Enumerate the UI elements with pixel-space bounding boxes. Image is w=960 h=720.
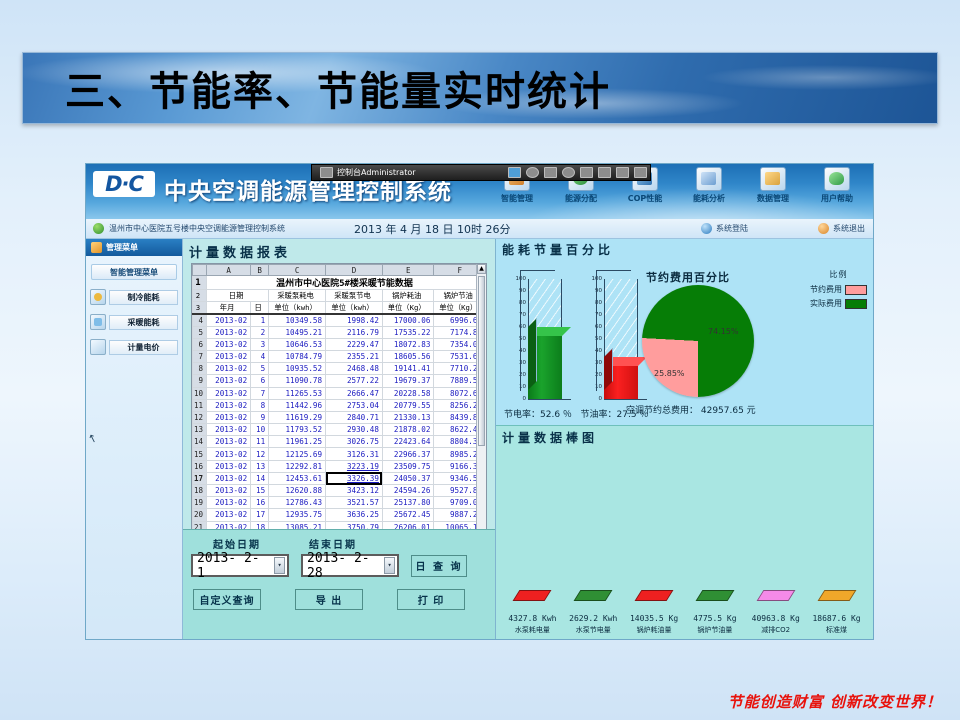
table-row: 202013-021712935.753636.2525672.459887.2… (193, 509, 486, 521)
header-day: 日 (251, 302, 269, 314)
legend-title: 比例 (810, 269, 867, 280)
selected-cell[interactable]: 3326.39 (326, 472, 383, 484)
bar-category: 标准煤 (809, 625, 865, 635)
row-header[interactable]: 14 (193, 436, 207, 448)
status-actions: 系统登陆 系统退出 (701, 223, 865, 234)
keyboard-icon[interactable] (616, 167, 629, 178)
end-date-label: 结束日期 (309, 536, 357, 551)
table-row: 72013-02410784.792355.2118605.567531.62 (193, 350, 486, 362)
cell-c[interactable]: 11442.96 (269, 399, 326, 411)
row-header[interactable]: 16 (193, 460, 207, 472)
drive-icon[interactable] (544, 167, 557, 178)
menu-icon (91, 242, 102, 253)
start-date-input[interactable]: 2013- 2- 1 ▾ (191, 554, 289, 577)
date-row: 2013- 2- 1 ▾ 2013- 2-28 ▾ 日 查 询 (183, 554, 495, 577)
row-header[interactable]: 20 (193, 509, 207, 521)
custom-query-button[interactable]: 自定义查询 (193, 589, 261, 610)
cell-e[interactable]: 24050.37 (382, 472, 434, 484)
nav-label: 智能管理 (501, 194, 533, 203)
bar-category: 水泵耗电量 (504, 625, 560, 635)
table-row: 102013-02711265.532666.4720228.588072.62 (193, 387, 486, 399)
cell-c[interactable]: 10646.53 (269, 338, 326, 350)
cell-ym[interactable]: 2013-02 (207, 460, 251, 472)
table-row: 52013-02210495.212116.7917535.227174.84 (193, 326, 486, 338)
bar-category: 减排CO2 (748, 625, 804, 635)
corner-cell (193, 265, 207, 276)
cell-c[interactable]: 10784.79 (269, 350, 326, 362)
bar-label-boiler-oil-used: 14035.5 Kg 锅炉耗油量 (626, 614, 682, 635)
sidebar-item-metering-price[interactable]: 计量电价 (90, 339, 178, 355)
print-button[interactable]: 打 印 (397, 589, 465, 610)
query-panel: 起始日期 结束日期 2013- 2- 1 ▾ 2013- 2-28 ▾ 日 查 … (183, 529, 495, 639)
column-header-row: A B C D E F (193, 265, 486, 276)
column-header-b[interactable]: B (251, 265, 269, 276)
cell-ym[interactable]: 2013-02 (207, 436, 251, 448)
row-header[interactable]: 6 (193, 338, 207, 350)
cell-ym[interactable]: 2013-02 (207, 363, 251, 375)
app-logo: D·C (93, 171, 155, 197)
bar-area (604, 279, 638, 399)
x-axis (604, 399, 647, 400)
cell-c[interactable]: 12292.81 (269, 460, 326, 472)
bar-item (687, 590, 743, 605)
cell-ym[interactable]: 2013-02 (207, 424, 251, 436)
scrollbar-thumb[interactable] (478, 276, 485, 446)
login-label: 系统登陆 (716, 223, 748, 234)
bar-label-pump-power-saved: 2629.2 Kwh 水泵节电量 (565, 614, 621, 635)
table-row: 112013-02811442.962753.0420779.558256.28 (193, 399, 486, 411)
row-header[interactable]: 19 (193, 497, 207, 509)
screen-icon[interactable] (508, 167, 521, 178)
cell-day[interactable]: 8 (251, 399, 269, 411)
cell-ym[interactable]: 2013-02 (207, 338, 251, 350)
cell-e[interactable]: 17000.06 (382, 314, 434, 326)
sidebar-item-heating-consumption[interactable]: 采暖能耗 (90, 314, 178, 330)
page-title: 三、节能率、节能量实时统计 (65, 59, 611, 117)
price-icon (90, 339, 106, 355)
cell-day[interactable]: 1 (251, 314, 269, 326)
pie-chart-title: 节约费用百分比 (646, 269, 730, 285)
bar-slab-boiler-oil-used (635, 590, 674, 601)
monitor-icon (320, 167, 333, 178)
cell-d[interactable]: 3223.19 (326, 460, 383, 472)
mouse-icon[interactable] (526, 167, 539, 178)
table-row: 152013-021212125.693126.3122966.378985.2… (193, 448, 486, 460)
sidebar-item-label: 计量电价 (109, 340, 178, 355)
cell-e[interactable]: 18072.83 (382, 338, 434, 350)
cell-c[interactable]: 10495.21 (269, 326, 326, 338)
cell-c[interactable]: 11090.78 (269, 375, 326, 387)
bar-area (528, 279, 562, 399)
bar-value: 4775.5 Kg (687, 614, 743, 623)
row-header[interactable]: 8 (193, 363, 207, 375)
cell-day[interactable]: 12 (251, 448, 269, 460)
table-row: 182013-021512620.883423.1224594.269527.8… (193, 485, 486, 497)
bar-category: 水泵节电量 (565, 625, 621, 635)
cell-d[interactable]: 2468.48 (326, 363, 383, 375)
bar-label-co2-reduction: 40963.8 Kg 减排CO2 (748, 614, 804, 635)
cell-day[interactable]: 3 (251, 338, 269, 350)
cell-day[interactable]: 9 (251, 411, 269, 423)
cell-e[interactable]: 19141.41 (382, 363, 434, 375)
header-date: 日期 (207, 290, 269, 302)
fullscreen-icon[interactable] (580, 167, 593, 178)
logout-label: 系统退出 (833, 223, 865, 234)
cell-ym[interactable]: 2013-02 (207, 472, 251, 484)
system-logout-button[interactable]: 系统退出 (818, 223, 865, 234)
cell-d[interactable]: 2930.48 (326, 424, 383, 436)
cell-day[interactable]: 4 (251, 350, 269, 362)
sidebar-header-label: 管理菜单 (106, 242, 138, 253)
console-toolbar[interactable]: 控制台Administrator (311, 164, 651, 181)
cell-c[interactable]: 12125.69 (269, 448, 326, 460)
cell-d[interactable]: 3126.31 (326, 448, 383, 460)
charts-panel: 能耗节量百分比 节约费用百分比 比例 节约费用 实际费用 1009080 706… (496, 239, 873, 639)
legend-label: 节约费用 (810, 284, 842, 295)
nav-label: COP性能 (628, 194, 663, 203)
cell-day[interactable]: 7 (251, 387, 269, 399)
bar-slab-standard-coal (817, 590, 856, 601)
table-row: 192013-021612786.433521.5725137.809709.0… (193, 497, 486, 509)
cooling-icon (90, 289, 106, 305)
cell-day[interactable]: 5 (251, 363, 269, 375)
cell-ym[interactable]: 2013-02 (207, 497, 251, 509)
table-row: 1 温州市中心医院5#楼采暖节能数据 (193, 276, 486, 290)
header-boiler-use: 锅炉耗油 (382, 290, 434, 302)
table-row: 2 日期 采暖泵耗电 采暖泵节电 锅炉耗油 锅炉节油 (193, 290, 486, 302)
bar-item (748, 590, 804, 605)
nav-label: 能耗分析 (693, 194, 725, 203)
slide-footer: 节能创造财富 创新改变世界！ (728, 691, 942, 712)
cell-d[interactable]: 2229.47 (326, 338, 383, 350)
bar-item (565, 590, 621, 605)
metering-bar-chart: 计量数据棒图 4327.8 Kwh 水泵耗电量 2629.2 Kwh 水泵节电量 (496, 425, 873, 639)
console-title: 控制台Administrator (337, 167, 416, 178)
cell-e[interactable]: 21330.13 (382, 411, 434, 423)
nav-item-user-help[interactable]: 用户帮助 (805, 167, 869, 204)
bar-row (496, 590, 873, 605)
nav-label: 用户帮助 (821, 194, 853, 203)
x-axis (528, 399, 571, 400)
cell-d[interactable]: 3636.25 (326, 509, 383, 521)
bar-slab-co2-reduction (756, 590, 795, 601)
legend-item-actual-cost: 实际费用 (810, 298, 867, 309)
cell-e[interactable]: 20779.55 (382, 399, 434, 411)
nav-label: 能源分配 (565, 194, 597, 203)
cell-d[interactable]: 3521.57 (326, 497, 383, 509)
cell-ym[interactable]: 2013-02 (207, 350, 251, 362)
cell-e[interactable]: 23509.75 (382, 460, 434, 472)
cell-ym[interactable]: 2013-02 (207, 387, 251, 399)
header-pump-save: 采暖泵节电 (326, 290, 383, 302)
user-icon (824, 167, 850, 191)
metering-chart-title: 计量数据棒图 (496, 426, 873, 446)
cell-ym[interactable]: 2013-02 (207, 326, 251, 338)
logout-icon (818, 223, 829, 234)
end-date-input[interactable]: 2013- 2-28 ▾ (301, 554, 399, 577)
bar-item (504, 590, 560, 605)
bar-slab-pump-power-used (513, 590, 552, 601)
system-name: 温州市中心医院五号楼中央空调能源管理控制系统 (109, 223, 285, 234)
cell-d[interactable]: 2116.79 (326, 326, 383, 338)
bar-side-face (528, 318, 537, 390)
cell-c[interactable]: 12453.61 (269, 472, 326, 484)
report-title: 计量数据报表 (183, 239, 495, 263)
cell-e[interactable]: 22966.37 (382, 448, 434, 460)
cell-d[interactable]: 3026.75 (326, 436, 383, 448)
row-header[interactable]: 10 (193, 387, 207, 399)
row-header[interactable]: 1 (193, 276, 207, 290)
start-date-label: 起始日期 (213, 536, 261, 551)
cell-day[interactable]: 6 (251, 375, 269, 387)
chevron-down-icon[interactable]: ▾ (274, 557, 285, 574)
system-login-button[interactable]: 系统登陆 (701, 223, 748, 234)
bar-green (528, 336, 562, 399)
sidebar-item-label: 采暖能耗 (109, 315, 178, 330)
start-date-value: 2013- 2- 1 (197, 551, 274, 581)
cell-ym[interactable]: 2013-02 (207, 399, 251, 411)
bar-value: 14035.5 Kg (626, 614, 682, 623)
header-unit-e: 单位（Kg） (382, 302, 434, 314)
power-saving-rate-text: 节电率：52.6 ％ (504, 410, 572, 420)
spreadsheet[interactable]: A B C D E F 1 温州市中心医院5#楼采暖节能数据 2 日期 采暖泵耗… (191, 263, 487, 560)
table-row: 42013-02110349.581998.4217000.066996.63 (193, 314, 486, 326)
row-header[interactable]: 12 (193, 411, 207, 423)
bar-labels: 4327.8 Kwh 水泵耗电量 2629.2 Kwh 水泵节电量 14035.… (496, 614, 873, 635)
row-header[interactable]: 2 (193, 290, 207, 302)
table-row: 82013-02510935.522468.4819141.417710.23 (193, 363, 486, 375)
table-row: 172013-021412453.613326.3924050.379346.5… (193, 472, 486, 484)
cell-c[interactable]: 11619.29 (269, 411, 326, 423)
cell-day[interactable]: 2 (251, 326, 269, 338)
sheet-title-cell: 温州市中心医院5#楼采暖节能数据 (207, 276, 486, 290)
cell-c[interactable]: 11793.52 (269, 424, 326, 436)
cell-c[interactable]: 10349.58 (269, 314, 326, 326)
header-unit-c: 单位（kwh） (269, 302, 326, 314)
pie-label-saved: 25.85% (654, 369, 685, 378)
cell-ym[interactable]: 2013-02 (207, 375, 251, 387)
cell-e[interactable]: 21878.02 (382, 424, 434, 436)
date-labels: 起始日期 结束日期 (183, 536, 495, 551)
slide-title-banner: 三、节能率、节能量实时统计 (22, 52, 938, 124)
header-ym: 年月 (207, 302, 251, 314)
sidebar-item-cooling-consumption[interactable]: 制冷能耗 (90, 289, 178, 305)
cell-e[interactable]: 25137.80 (382, 497, 434, 509)
cell-c[interactable]: 11961.25 (269, 436, 326, 448)
cell-day[interactable]: 17 (251, 509, 269, 521)
status-bar: 温州市中心医院五号楼中央空调能源管理控制系统 2013 年 4 月 18 日 1… (86, 219, 873, 239)
pie-label-actual: 74.15% (708, 327, 739, 336)
cell-ym[interactable]: 2013-02 (207, 411, 251, 423)
cell-day[interactable]: 11 (251, 436, 269, 448)
row-header[interactable]: 7 (193, 350, 207, 362)
legend-label: 实际费用 (810, 298, 842, 309)
cell-day[interactable]: 14 (251, 472, 269, 484)
cell-e[interactable]: 19679.37 (382, 375, 434, 387)
percentage-charts: 节约费用百分比 比例 节约费用 实际费用 1009080 706050 4030… (496, 257, 873, 419)
row-header[interactable]: 9 (193, 375, 207, 387)
cell-e[interactable]: 20228.58 (382, 387, 434, 399)
bar-slab-boiler-oil-saved (695, 590, 734, 601)
cell-d[interactable]: 2840.71 (326, 411, 383, 423)
row-header[interactable]: 5 (193, 326, 207, 338)
percent-chart-title: 能耗节量百分比 (496, 239, 873, 258)
cell-ym[interactable]: 2013-02 (207, 485, 251, 497)
bar-label-pump-power-used: 4327.8 Kwh 水泵耗电量 (504, 614, 560, 635)
cell-c[interactable]: 11265.53 (269, 387, 326, 399)
row-header[interactable]: 18 (193, 485, 207, 497)
sidebar-item-label: 制冷能耗 (109, 290, 178, 305)
legend-swatch (845, 285, 867, 295)
cell-c[interactable]: 12935.75 (269, 509, 326, 521)
pie-legend: 比例 节约费用 实际费用 (810, 269, 867, 312)
report-table: A B C D E F 1 温州市中心医院5#楼采暖节能数据 2 日期 采暖泵耗… (192, 264, 486, 546)
cell-e[interactable]: 17535.22 (382, 326, 434, 338)
table-row: 162013-021312292.813223.1923509.759166.3… (193, 460, 486, 472)
column-header-a[interactable]: A (207, 265, 251, 276)
cell-c[interactable]: 12620.88 (269, 485, 326, 497)
table-row: 92013-02611090.782577.2219679.377889.55 (193, 375, 486, 387)
day-query-button[interactable]: 日 查 询 (411, 555, 467, 577)
bar-value: 2629.2 Kwh (565, 614, 621, 623)
report-panel: 计量数据报表 A B C D E F 1 温州市中心医院5#楼采暖节能数据 2 (183, 239, 496, 639)
table-row: 62013-02310646.532229.4718072.837354.04 (193, 338, 486, 350)
cell-day[interactable]: 13 (251, 460, 269, 472)
cell-ym[interactable]: 2013-02 (207, 509, 251, 521)
row-header[interactable]: 11 (193, 399, 207, 411)
row-header[interactable]: 13 (193, 424, 207, 436)
column-header-c[interactable]: C (269, 265, 326, 276)
cell-ym[interactable]: 2013-02 (207, 314, 251, 326)
system-icon (93, 223, 104, 234)
bar-category: 锅炉耗油量 (626, 625, 682, 635)
bar-value: 4327.8 Kwh (504, 614, 560, 623)
sidebar-item-smart-menu[interactable]: 智能管理菜单 (91, 264, 177, 280)
pointer-icon[interactable] (562, 167, 575, 178)
vertical-scrollbar[interactable]: ▲ ▼ (476, 264, 486, 559)
bar-item (626, 590, 682, 605)
action-row: 自定义查询 导 出 打 印 (183, 589, 495, 610)
row-header[interactable]: 17 (193, 472, 207, 484)
chevron-down-icon[interactable]: ▾ (384, 557, 395, 574)
bar-slab-pump-power-saved (574, 590, 613, 601)
sidebar-header: 管理菜单 (86, 239, 182, 256)
login-icon (701, 223, 712, 234)
bar-value: 18687.6 Kg (809, 614, 865, 623)
notebook-icon (696, 167, 722, 191)
cell-day[interactable]: 10 (251, 424, 269, 436)
bar-label-standard-coal: 18687.6 Kg 标准煤 (809, 614, 865, 635)
cell-ym[interactable]: 2013-02 (207, 448, 251, 460)
cell-d[interactable]: 1998.42 (326, 314, 383, 326)
table-row: 122013-02911619.292840.7121330.138439.81 (193, 411, 486, 423)
row-header[interactable]: 3 (193, 302, 207, 314)
sidebar: 管理菜单 智能管理菜单 制冷能耗 采暖能耗 计量电价 (86, 239, 183, 639)
application-window: 控制台Administrator D·C 中央空调能源管理控制系统 智能管理 能… (85, 163, 874, 640)
cell-d[interactable]: 2577.22 (326, 375, 383, 387)
cell-e[interactable]: 25672.45 (382, 509, 434, 521)
nav-item-data-management[interactable]: 数据管理 (741, 167, 805, 204)
column-header-d[interactable]: D (326, 265, 383, 276)
bar-red (604, 366, 638, 399)
cell-d[interactable]: 2753.04 (326, 399, 383, 411)
cell-e[interactable]: 18605.56 (382, 350, 434, 362)
bar-value: 40963.8 Kg (748, 614, 804, 623)
table-row: 142013-021111961.253026.7522423.648804.3… (193, 436, 486, 448)
cell-c[interactable]: 12786.43 (269, 497, 326, 509)
column-header-e[interactable]: E (382, 265, 434, 276)
hand-icon[interactable] (598, 167, 611, 178)
nav-label: 数据管理 (757, 194, 789, 203)
cell-day[interactable]: 15 (251, 485, 269, 497)
system-datetime: 2013 年 4 月 18 日 10时 26分 (354, 221, 510, 237)
cell-d[interactable]: 2355.21 (326, 350, 383, 362)
header-unit-d: 单位（kwh） (326, 302, 383, 314)
total-savings-text: 空调节约总费用： 42957.65 元 (626, 403, 756, 416)
cell-c[interactable]: 10935.52 (269, 363, 326, 375)
legend-item-saved-cost: 节约费用 (810, 284, 867, 295)
cell-e[interactable]: 24594.26 (382, 485, 434, 497)
nav-item-energy-analysis[interactable]: 能耗分析 (677, 167, 741, 204)
folder-icon (760, 167, 786, 191)
cell-day[interactable]: 16 (251, 497, 269, 509)
bar-category: 锅炉节油量 (687, 625, 743, 635)
row-header[interactable]: 4 (193, 314, 207, 326)
cell-d[interactable]: 3423.12 (326, 485, 383, 497)
legend-swatch (845, 299, 867, 309)
row-header[interactable]: 15 (193, 448, 207, 460)
volume-icon[interactable] (634, 167, 647, 178)
header-pump-use: 采暖泵耗电 (269, 290, 326, 302)
end-date-value: 2013- 2-28 (307, 551, 384, 581)
cell-d[interactable]: 2666.47 (326, 387, 383, 399)
table-row: 3 年月 日 单位（kwh） 单位（kwh） 单位（Kg） 单位（Kg） (193, 302, 486, 314)
table-row: 132013-021011793.522930.4821878.028622.4… (193, 424, 486, 436)
bar-label-boiler-oil-saved: 4775.5 Kg 锅炉节油量 (687, 614, 743, 635)
cell-e[interactable]: 22423.64 (382, 436, 434, 448)
pie-chart (642, 285, 754, 397)
heating-icon (90, 314, 106, 330)
scroll-up-arrow[interactable]: ▲ (477, 264, 486, 274)
export-button[interactable]: 导 出 (295, 589, 363, 610)
bar-item (809, 590, 865, 605)
